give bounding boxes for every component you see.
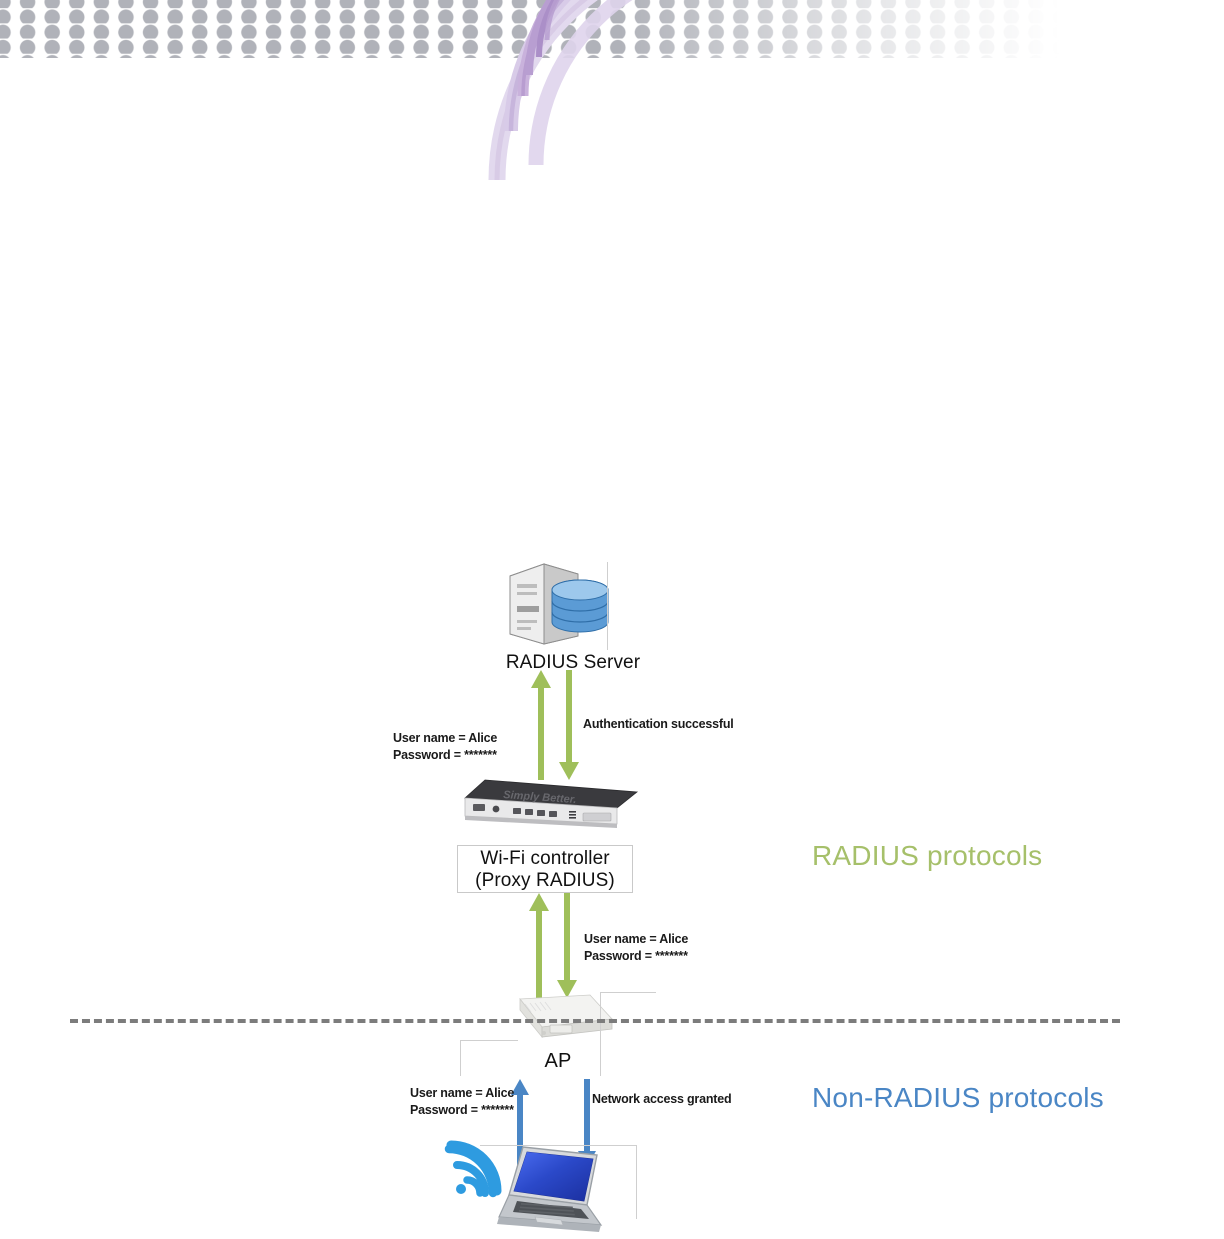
server-label-frame	[486, 562, 608, 650]
access-point-label: AP	[488, 1050, 628, 1074]
message-auth-success: Authentication successful	[583, 716, 734, 733]
message-line-1: User name = Alice	[584, 931, 688, 948]
message-line-2: Password = *******	[393, 747, 497, 764]
message-line-1: User name = Alice	[393, 730, 497, 747]
message-line-2: Password = *******	[410, 1102, 514, 1119]
radius-flow-diagram: RADIUS Server User name = Alice Password…	[0, 0, 1224, 1239]
message-access-granted: Network access granted	[592, 1091, 731, 1108]
arrow-credentials-up-to-controller	[528, 893, 550, 998]
arrow-credentials-up-to-server	[530, 670, 552, 780]
zone-label-radius-protocols: RADIUS protocols	[812, 840, 1042, 872]
message-credentials-mid: User name = Alice Password = *******	[584, 931, 688, 964]
laptop-icon	[483, 1143, 611, 1239]
wifi-controller-label: Wi-Fi controller (Proxy RADIUS)	[457, 848, 633, 893]
wifi-controller-label-line2: (Proxy RADIUS)	[457, 870, 633, 892]
arrow-credentials-down-to-ap	[556, 893, 578, 998]
message-line-1: User name = Alice	[410, 1085, 514, 1102]
wifi-controller-label-line1: Wi-Fi controller	[457, 848, 633, 870]
message-line-2: Password = *******	[584, 948, 688, 965]
rack-appliance-icon: Simply Better.	[455, 778, 645, 838]
message-credentials-upper: User name = Alice Password = *******	[393, 730, 497, 763]
message-line-1: Authentication successful	[583, 716, 734, 733]
zone-label-non-radius-protocols: Non-RADIUS protocols	[812, 1082, 1104, 1114]
message-line-1: Network access granted	[592, 1091, 731, 1108]
client-leader-line-right	[636, 1145, 637, 1219]
message-credentials-lower: User name = Alice Password = *******	[410, 1085, 514, 1118]
arrow-auth-success-down	[558, 670, 580, 780]
protocol-zone-divider	[70, 1019, 1120, 1023]
